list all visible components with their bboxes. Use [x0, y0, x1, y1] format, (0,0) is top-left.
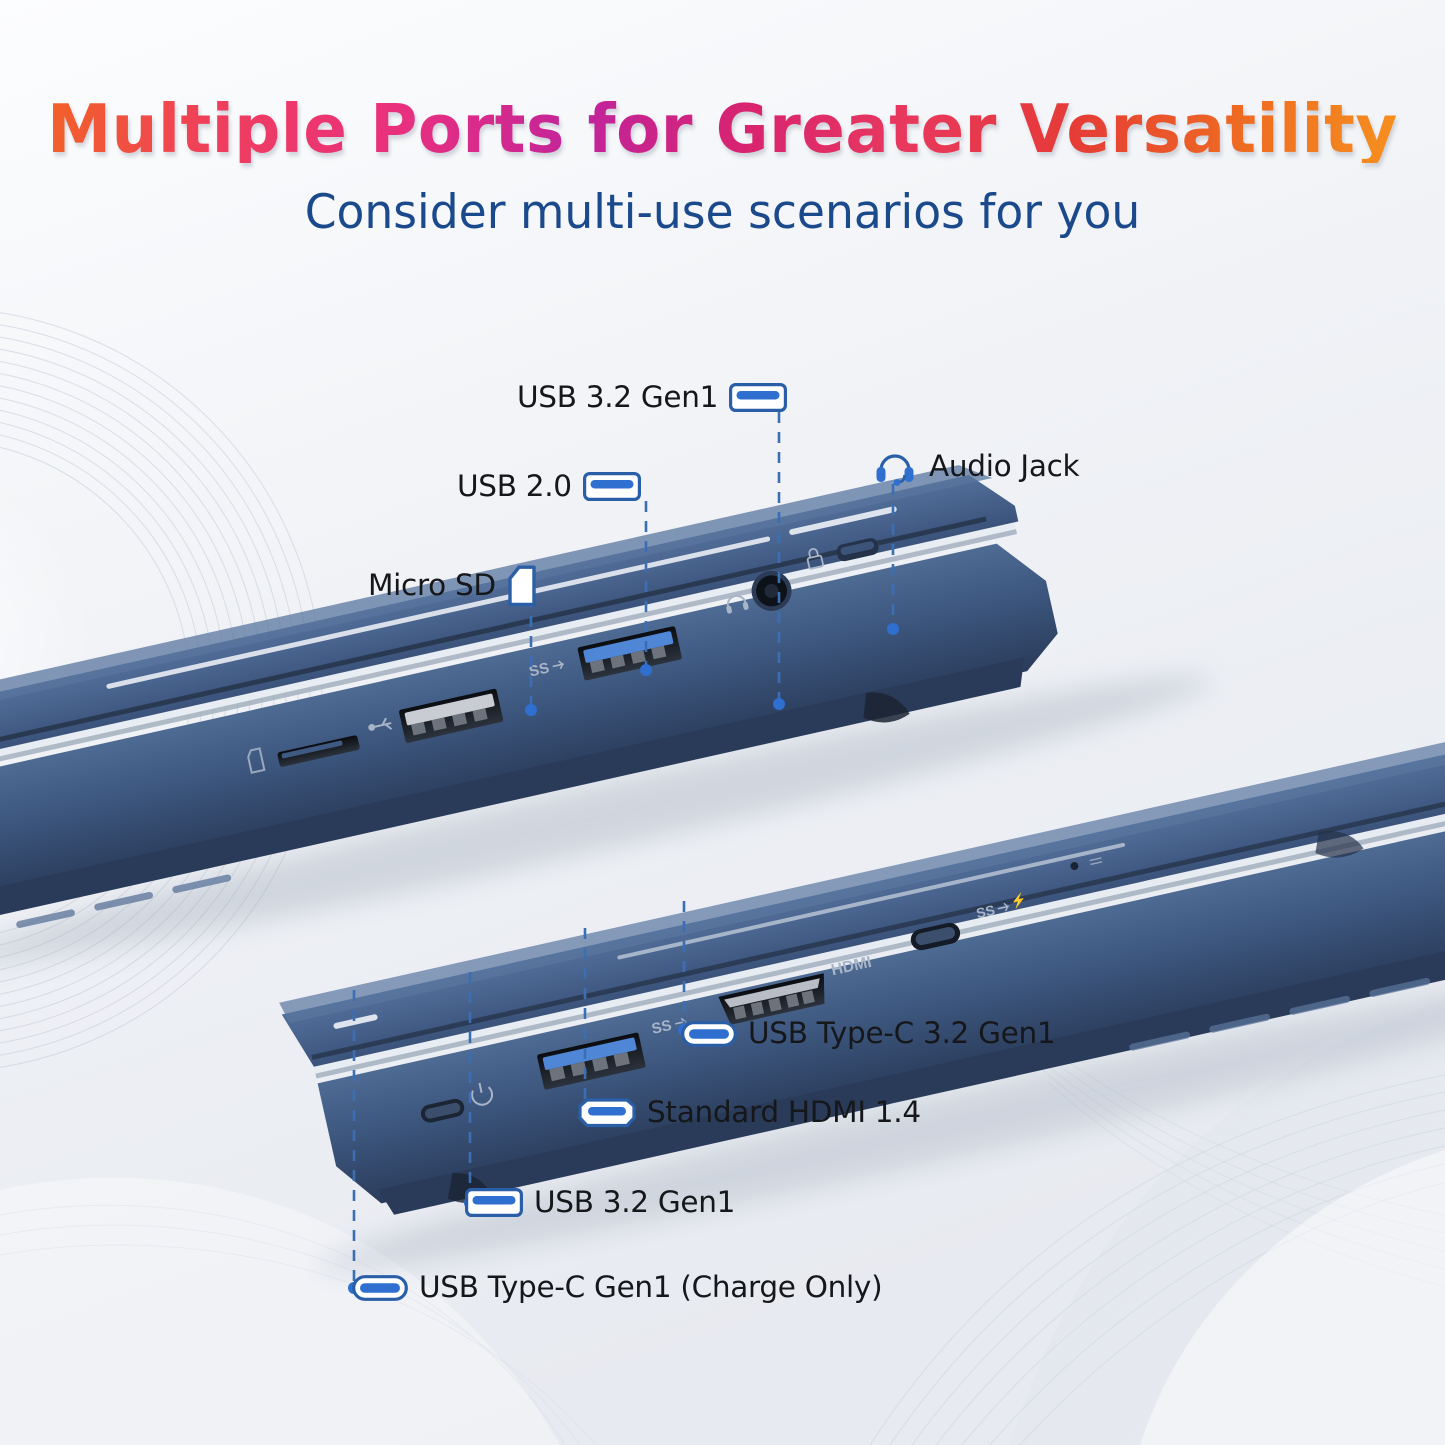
- usb-a-port-icon: [729, 383, 787, 412]
- headset-icon: [872, 444, 918, 490]
- callout-hdmi[interactable]: Standard HDMI 1.4: [578, 1098, 921, 1128]
- hdmi-port-icon: [578, 1098, 636, 1128]
- callout-usb32-bot[interactable]: USB 3.2 Gen1: [465, 1188, 735, 1218]
- callout-label-usb32-top: USB 3.2 Gen1: [517, 383, 718, 413]
- callout-typec32[interactable]: USB Type-C 3.2 Gen1: [681, 1019, 1055, 1049]
- usb-c-port-icon: [352, 1275, 408, 1301]
- callout-label-usb20: USB 2.0: [457, 472, 572, 502]
- callout-usb32-top[interactable]: USB 3.2 Gen1: [517, 383, 787, 413]
- callout-label-microsd: Micro SD: [368, 571, 496, 601]
- leader-lines: [0, 0, 1445, 1445]
- callout-usb20[interactable]: USB 2.0: [457, 472, 641, 502]
- callout-label-usb32-bot: USB 3.2 Gen1: [534, 1188, 735, 1218]
- microsd-card-icon: [507, 565, 537, 607]
- usb-a-port-icon: [583, 472, 641, 501]
- usb-c-port-icon: [681, 1021, 737, 1047]
- callout-typec-chg[interactable]: USB Type-C Gen1 (Charge Only): [352, 1273, 882, 1303]
- callout-label-typec-chg: USB Type-C Gen1 (Charge Only): [419, 1273, 882, 1303]
- callout-audiojack[interactable]: Audio Jack: [872, 444, 1079, 490]
- callout-label-hdmi: Standard HDMI 1.4: [647, 1098, 921, 1128]
- infographic-canvas: Multiple Ports for Greater Versatility C…: [0, 0, 1445, 1445]
- callout-microsd[interactable]: Micro SD: [368, 565, 537, 607]
- usb-a-port-icon: [465, 1188, 523, 1217]
- callout-label-typec32: USB Type-C 3.2 Gen1: [748, 1019, 1055, 1049]
- callout-label-audiojack: Audio Jack: [929, 452, 1079, 482]
